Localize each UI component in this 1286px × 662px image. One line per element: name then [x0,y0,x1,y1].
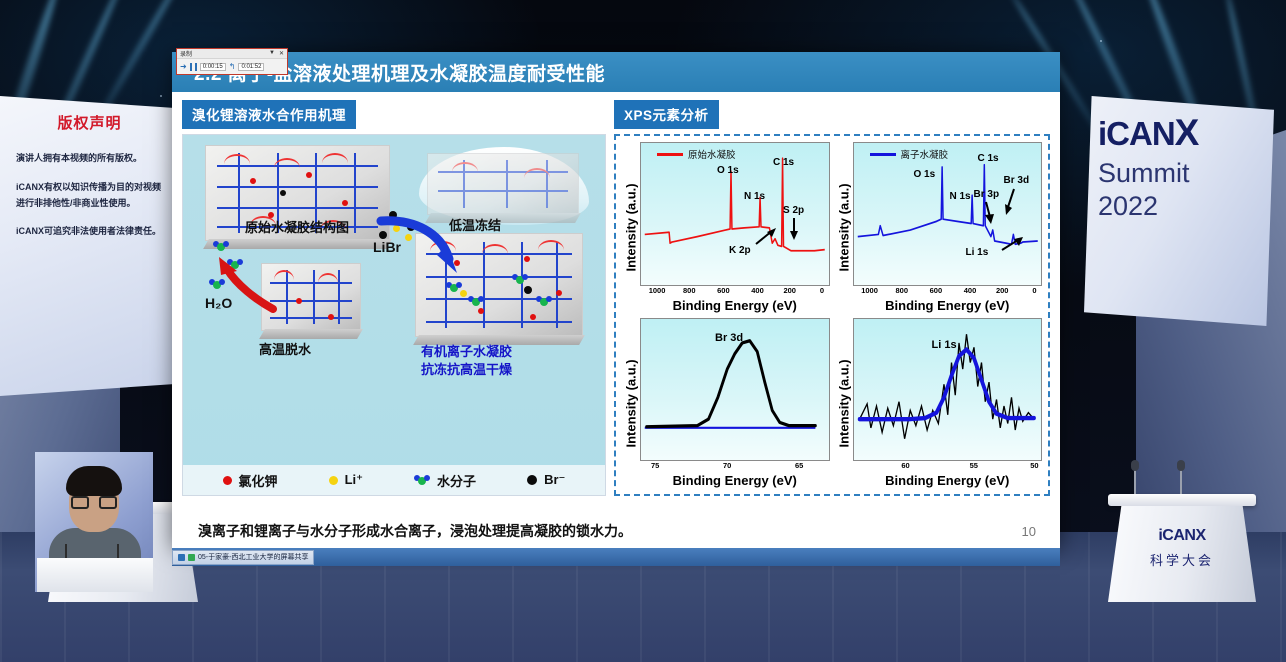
monitor-icon [178,554,185,561]
slide-title-bar: 2.2 离子-盐溶液处理机理及水凝胶温度耐受性能 [172,52,1060,92]
taskbar-item-screen-share[interactable]: 05-于家豪-西北工业大学的屏幕共享 [172,550,314,565]
chart1-legend-label: 原始水凝胶 [688,147,736,161]
water-molecule-icon [414,475,430,485]
xps-survey-chart-ionic: Intensity (a.u.) 离子水凝胶 O 1s N 1s [835,142,1043,313]
water-molecule-icon [468,296,484,306]
recording-toolbar-titlebar[interactable]: 录制 ▼ ✕ [177,49,287,59]
chart2-arrow-br3p-icon [982,201,996,225]
chart2-peak-br3d: Br 3d [1004,175,1030,186]
summit-year: 2022 [1098,191,1274,222]
chart2-peak-c1s: C 1s [978,153,999,164]
icanx-summit-sign: iCANX Summit 2022 [1084,96,1274,326]
podium-right: iCANX 科学大会 [1108,494,1256,602]
label-ionic-hydrogel-line1: 有机离子水凝胶 [421,341,512,360]
chart3-plot-area: Br 3d [640,318,830,462]
podium-right-brand: iCANX [1108,527,1256,545]
icanx-logo-text: iCAN [1098,115,1175,152]
yellow-dot-icon [329,476,338,485]
chevron-down-icon[interactable]: ▼ [269,50,275,57]
microphone-icon [1134,468,1136,494]
chart3-xtick: 75 [651,461,659,470]
podium-right-logo: iCANX 科学大会 [1108,527,1256,569]
chart2-legend: 离子水凝胶 [870,147,949,161]
next-slide-icon[interactable]: ➜ [180,62,187,71]
copyright-line-3: iCANX可追究非法使用者法律责任。 [16,224,163,240]
chart1-peak-k2p: K 2p [729,245,751,256]
mechanism-panel: 溴化锂溶液水合作用机理 [182,100,606,512]
icanx-logo-x: X [1175,112,1199,153]
chart3-x-ticks: 75 70 65 [640,461,830,474]
podium-right-body: iCANX 科学大会 [1108,506,1256,602]
label-pristine-structure: 原始水凝胶结构图 [245,217,349,236]
xps-li1s-chart: Intensity (a.u.) Li 1s 60 55 5 [835,318,1043,489]
elapsed-time: 0:00:15 [200,63,226,71]
legend-label-kcl: 氯化钾 [239,471,278,490]
speaker-podium [37,558,153,592]
legend-item-li: Li⁺ [329,472,363,488]
chart2-xtick: 800 [896,286,909,295]
chart2-xtick: 0 [1032,286,1036,295]
copyright-line-1: 演讲人拥有本视频的所有版权。 [16,151,163,167]
chart3-xtick: 65 [795,461,803,470]
taskbar: 05-于家豪-西北工业大学的屏幕共享 [172,548,1060,566]
legend-item-br: Br⁻ [527,472,565,488]
chart4-xtick: 55 [970,461,978,470]
legend-label-br: Br⁻ [544,472,565,488]
speaker-hair [66,466,122,496]
shared-slide[interactable]: 2.2 离子-盐溶液处理机理及水凝胶温度耐受性能 溴化锂溶液水合作用机理 [172,52,1060,550]
chart2-xtick: 1000 [861,286,878,295]
xps-chart-grid: Intensity (a.u.) 原始水凝胶 O 1s N 1s [614,134,1050,496]
speaker-glasses-icon [71,496,117,509]
chart2-peak-o1s: O 1s [914,169,936,180]
black-dot-icon [527,475,537,485]
chart2-peak-br3p: Br 3p [974,189,1000,200]
pause-icon[interactable] [190,63,197,71]
xps-panel: XPS元素分析 Intensity (a.u.) 原始水凝胶 [614,100,1050,512]
figure-legend: 氯化钾 Li⁺ 水分子 Br⁻ [183,465,605,495]
copyright-title: 版权声明 [16,112,163,133]
water-molecule-icon [446,282,462,292]
bromide-ion-icon [524,286,532,294]
chart1-y-label: Intensity (a.u.) [622,142,640,313]
total-time: 0:01:52 [238,63,264,71]
chart4-peak-li1s: Li 1s [932,339,957,351]
copyright-notice-panel: 版权声明 演讲人拥有本视频的所有版权。 iCANX有权以知识传播为目的对视频进行… [0,96,175,396]
legend-label-water: 水分子 [437,471,476,490]
legend-label-li: Li⁺ [345,472,363,488]
chart4-xtick: 60 [901,461,909,470]
podium-right-subtitle: 科学大会 [1108,550,1256,569]
chart2-peak-n1s: N 1s [950,191,971,202]
chart1-peak-s2p: S 2p [783,205,804,216]
chart4-x-ticks: 60 55 50 [853,461,1043,474]
hydrogel-block-frozen [427,153,579,215]
label-libr: LiBr [373,239,401,255]
xps-survey-chart-pristine: Intensity (a.u.) 原始水凝胶 O 1s N 1s [622,142,830,313]
red-dot-icon [223,476,232,485]
xps-br3d-chart: Intensity (a.u.) Br 3d 75 70 6 [622,318,830,489]
chart1-xtick: 600 [717,286,730,295]
mechanism-figure: 原始水凝胶结构图 低温冻结 LiBr H₂O 高温脱水 有机离子水凝胶 抗冻抗高… [182,134,606,496]
label-water: H₂O [205,295,232,311]
xps-panel-header: XPS元素分析 [614,100,719,129]
chart1-xtick: 800 [683,286,696,295]
taskbar-item-label: 05-于家豪-西北工业大学的屏幕共享 [198,552,308,562]
speaker-video-feed[interactable] [35,452,153,592]
close-icon[interactable]: ✕ [279,50,284,57]
slide-footer: 溴离子和锂离子与水分子形成水合离子，浸泡处理提高凝胶的锁水力。 10 [172,512,1060,550]
microphone-icon [1180,468,1182,494]
icanx-logo: iCANX [1098,112,1274,154]
legend-item-kcl: 氯化钾 [223,471,278,490]
chart2-legend-swatch [870,153,896,156]
chart1-xtick: 200 [783,286,796,295]
chart3-x-label: Binding Energy (eV) [640,473,830,488]
label-low-temp-freeze: 低温冻结 [449,215,501,234]
water-molecule-icon [512,274,528,284]
chart2-xtick: 400 [964,286,977,295]
chart1-xtick: 1000 [649,286,666,295]
recording-toolbar-title: 录制 [180,49,192,58]
background-sparkle [1100,40,1102,42]
slide-body: 溴化锂溶液水合作用机理 [172,92,1060,512]
chart3-peak-br3d: Br 3d [715,332,743,344]
chart1-legend: 原始水凝胶 [657,147,736,161]
legend-item-water: 水分子 [414,471,476,490]
recording-toolbar[interactable]: 录制 ▼ ✕ ➜ 0:00:15 ↰ 0:01:52 [176,48,288,75]
slide-page-number: 10 [1022,524,1036,539]
chart2-x-ticks: 1000 800 600 400 200 0 [853,286,1043,299]
water-molecule-icon [213,241,229,251]
chart1-peak-c1s: C 1s [773,157,794,168]
chart1-x-label: Binding Energy (eV) [640,298,830,313]
chart1-x-ticks: 1000 800 600 400 200 0 [640,286,830,299]
chart2-x-label: Binding Energy (eV) [853,298,1043,313]
chart4-x-label: Binding Energy (eV) [853,473,1043,488]
recording-toolbar-controls[interactable]: ➜ 0:00:15 ↰ 0:01:52 [177,59,287,74]
chart1-plot-area: 原始水凝胶 O 1s N 1s C 1s S 2p K 2p [640,142,830,286]
chart2-arrow-br3d-icon [1002,187,1018,217]
summit-label: Summit [1098,158,1274,189]
copyright-line-2: iCANX有权以知识传播为目的对视频进行非排他性/非商业性使用。 [16,180,163,212]
chart4-y-label: Intensity (a.u.) [835,318,853,489]
chart1-xtick: 400 [751,286,764,295]
chart4-plot-area: Li 1s [853,318,1043,462]
chart2-y-label: Intensity (a.u.) [835,142,853,313]
chart1-peak-n1s: N 1s [744,191,765,202]
chart1-arrow-k2p-icon [753,227,777,247]
chart2-xtick: 600 [930,286,943,295]
chart2-legend-label: 离子水凝胶 [901,147,949,161]
water-molecule-icon [536,296,552,306]
replay-icon[interactable]: ↰ [229,62,236,71]
chart1-xtick: 0 [820,286,824,295]
podium-right-top [1108,494,1256,506]
chart1-arrow-s2p-icon [787,217,801,241]
chart4-xtick: 50 [1030,461,1038,470]
chart2-plot-area: 离子水凝胶 O 1s N 1s C 1s Br 3p Br 3d Li 1s [853,142,1043,286]
figure-scene: 原始水凝胶结构图 低温冻结 LiBr H₂O 高温脱水 有机离子水凝胶 抗冻抗高… [183,135,605,495]
slide-caption: 溴离子和锂离子与水分子形成水合离子，浸泡处理提高凝胶的锁水力。 [198,521,632,541]
chart3-y-label: Intensity (a.u.) [622,318,640,489]
label-ionic-hydrogel-line2: 抗冻抗高温干燥 [421,359,512,378]
chart1-peak-o1s: O 1s [717,165,739,176]
download-icon [188,554,195,561]
chart2-xtick: 200 [996,286,1009,295]
background-sparkle [160,95,162,97]
chart3-xtick: 70 [723,461,731,470]
chart2-arrow-li1s-icon [1000,235,1024,253]
label-high-temp-dehydration: 高温脱水 [259,339,311,358]
chart2-peak-li1s: Li 1s [966,247,989,258]
mechanism-panel-header: 溴化锂溶液水合作用机理 [182,100,356,129]
chart1-legend-swatch [657,153,683,156]
